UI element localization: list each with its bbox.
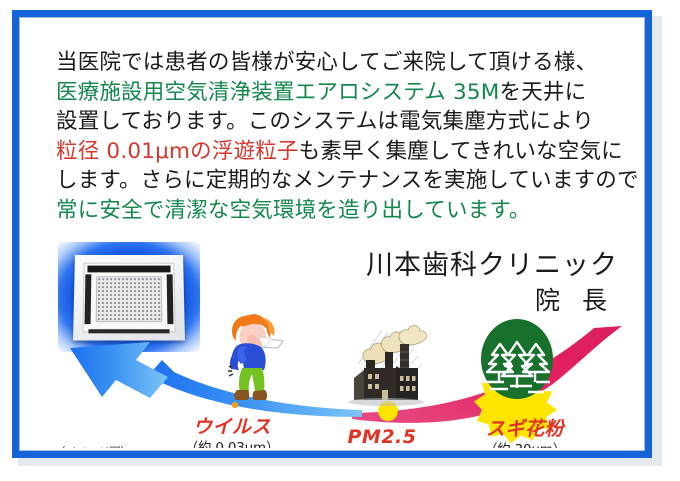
purifier-intake-slot-top: [87, 266, 170, 273]
particle-label-pollen: スギ花粉 （約 30μm）: [465, 418, 585, 448]
message-segment: 当医院では患者の皆様が安心してご来院して頂ける様、: [56, 50, 597, 75]
factory-smokestack-icon: [338, 322, 430, 412]
purifier-vent-bottom: [88, 329, 169, 333]
message-segment-highlight-product: 医療施設用空気清浄装置エアロシステム 35M: [56, 80, 500, 105]
message-block: 当医院では患者の皆様が安心してご来院して頂ける様、 医療施設用空気清浄装置エアロ…: [56, 48, 626, 225]
particle-label-pm25: PM2.5 （2.5μm以下）: [327, 426, 437, 448]
poster-content: 当医院では患者の皆様が安心してご来院して頂ける様、 医療施設用空気清浄装置エアロ…: [22, 20, 642, 448]
message-segment: 設置しております。このシステムは電気集塵方式により: [56, 109, 594, 134]
particle-size: （約 30μm）: [465, 441, 585, 448]
signature-title: 院 長: [366, 284, 618, 318]
poster: 当医院では患者の皆様が安心してご来院して頂ける様、 医療施設用空気清浄装置エアロ…: [10, 8, 662, 466]
purifier-unit: [73, 255, 185, 341]
particle-label-virus: ウイルス （約 0.03μm）: [172, 416, 292, 448]
message-line-1: 当医院では患者の皆様が安心してご来院して頂ける様、: [56, 48, 626, 78]
particle-name: PM2.5: [327, 426, 437, 448]
purifier-grille: [96, 276, 163, 322]
purifier-vent-left: [85, 274, 92, 324]
message-segment-highlight-particle: 粒径 0.01μmの浮遊粒子: [56, 139, 299, 164]
message-segment: も素早く集塵してきれいな空気に: [299, 139, 623, 164]
air-purifier-photo: [58, 242, 200, 352]
particle-name: スギ花粉: [465, 418, 585, 441]
clinic-name: 川本歯科クリニック: [366, 248, 618, 284]
particle-name: ウイルス: [172, 416, 292, 439]
cedar-trees-icon: [474, 318, 560, 404]
message-segment: します。さらに定期的なメンテナンスを実施していますので: [56, 168, 639, 193]
sneezing-person-icon: [220, 308, 284, 404]
signature-block: 川本歯科クリニック 院 長: [366, 248, 618, 318]
message-segment: を天井に: [500, 80, 587, 105]
message-segment-highlight-closing: 常に安全で清潔な空気環境を造り出しています。: [56, 198, 531, 223]
message-line-2: 医療施設用空気清浄装置エアロシステム 35Mを天井に: [56, 78, 626, 108]
message-line-5: します。さらに定期的なメンテナンスを実施していますので: [56, 166, 626, 196]
image-disclaimer-note: （イメージ図）: [54, 444, 131, 448]
message-line-6: 常に安全で清潔な空気環境を造り出しています。: [56, 196, 626, 226]
purifier-vent-right: [167, 274, 174, 324]
message-line-3: 設置しております。このシステムは電気集塵方式により: [56, 107, 626, 137]
message-line-4: 粒径 0.01μmの浮遊粒子も素早く集塵してきれいな空気に: [56, 137, 626, 167]
particle-size: （約 0.03μm）: [172, 439, 292, 448]
